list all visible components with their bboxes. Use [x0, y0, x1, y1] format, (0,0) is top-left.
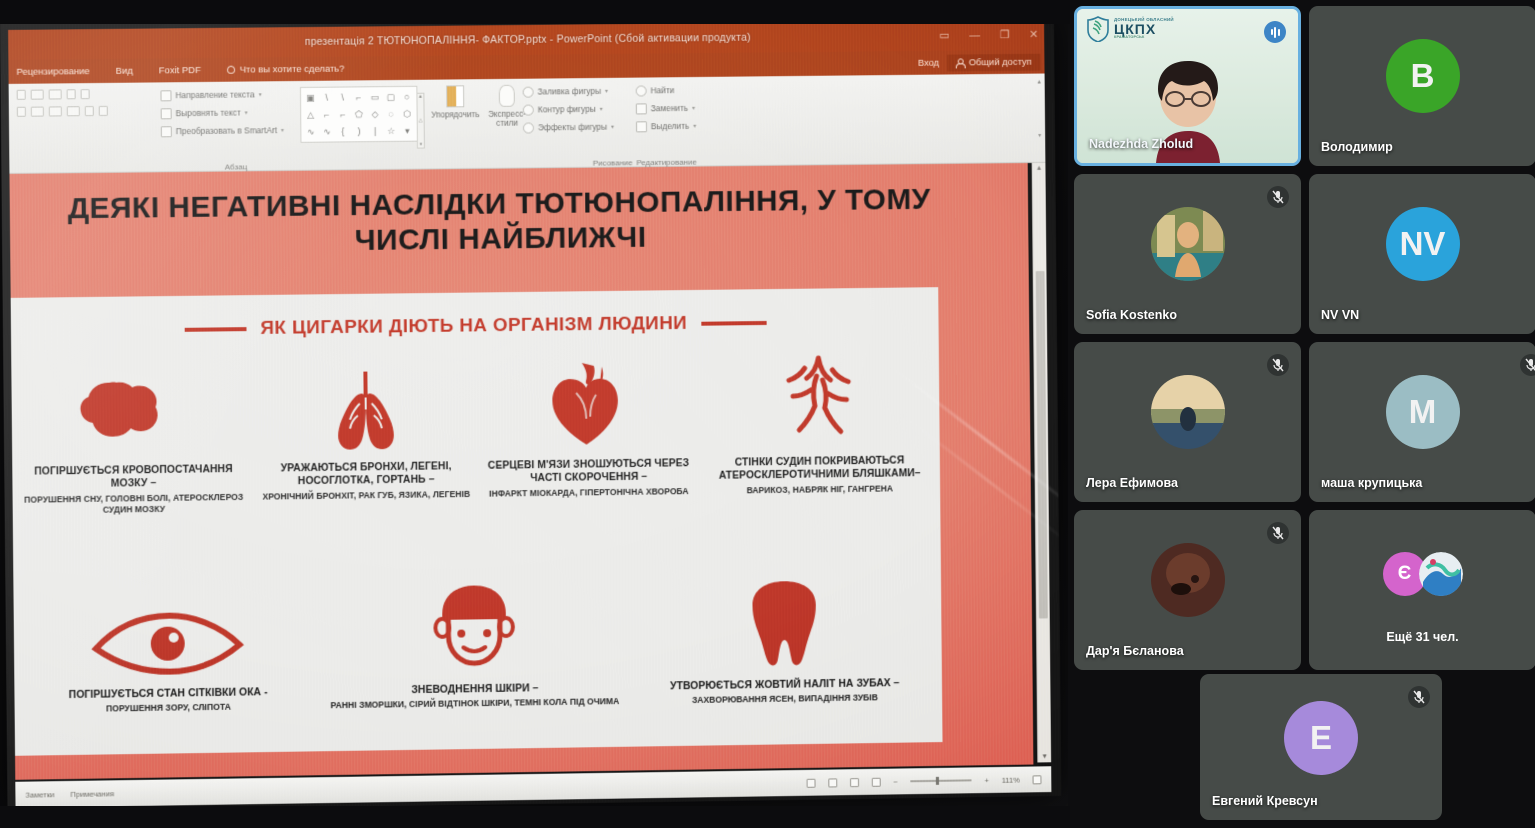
chevron-down-icon: ▾ [281, 127, 284, 134]
organization-logo: ДОНЕЦЬКИЙ ОБЛАСНИЙ ЦКПХ КРАМАТОРСЬК [1087, 16, 1174, 42]
shape-outline-label: Контур фигуры [538, 104, 596, 115]
slideshow-icon[interactable] [872, 777, 881, 786]
sign-in-button[interactable]: Вход [918, 57, 939, 68]
align-center-icon[interactable] [49, 106, 62, 116]
shape-brace-right-icon[interactable]: ) [351, 123, 366, 139]
participant-tile-nadezhda-zholud[interactable]: ДОНЕЦЬКИЙ ОБЛАСНИЙ ЦКПХ КРАМАТОРСЬК [1074, 6, 1301, 166]
text-direction-command[interactable]: Направление текста ▾ [160, 85, 310, 104]
monitor-bezel-bottom [0, 806, 1070, 828]
chevron-down-icon: ▾ [245, 109, 248, 116]
find-command[interactable]: Найти [636, 81, 725, 100]
select-label: Выделить [651, 121, 689, 131]
avatar: NV [1386, 207, 1460, 281]
chevron-down-icon: ▾ [600, 105, 603, 112]
zoom-slider-knob[interactable] [936, 777, 939, 785]
overflow-avatars: Є [1383, 552, 1463, 596]
replace-command[interactable]: Заменить ▾ [636, 99, 725, 118]
zoom-out-icon[interactable]: − [893, 777, 897, 786]
smartart-icon [161, 126, 172, 137]
share-label: Общий доступ [969, 56, 1032, 68]
infographic-item-brain[interactable]: ПОГІРШУЄТЬСЯ КРОВОПОСТАЧАННЯ МОЗКУ – ПОР… [11, 361, 255, 517]
chevron-down-icon: ▾ [611, 123, 614, 130]
caption-sub: ХРОНІЧНИЙ БРОНХІТ, РАК ГУБ, ЯЗИКА, ЛЕГЕН… [261, 489, 472, 503]
participant-tile-nv-vn[interactable]: NV NV VN [1309, 174, 1535, 334]
infographic-row-2: ПОГІРШУЄТЬСЯ СТАН СІТКІВКИ ОКА - ПОРУШЕН… [13, 575, 941, 716]
shield-icon [1087, 16, 1109, 42]
caption-main: СЕРЦЕВІ М'ЯЗИ ЗНОШУЮТЬСЯ ЧЕРЕЗ ЧАСТІ СКО… [483, 457, 694, 486]
participant-tile-masha-krupytska[interactable]: M маша крупицька [1309, 342, 1535, 502]
select-icon [636, 121, 647, 132]
heading-rule-left [185, 327, 247, 332]
shape-outline-command[interactable]: Контур фигуры ▾ [523, 100, 634, 119]
arrange-icon [446, 85, 464, 107]
shape-pentagon-icon[interactable]: ⬠ [351, 106, 366, 122]
view-sorter-icon[interactable] [828, 778, 837, 787]
shape-cube-icon[interactable]: ⬡ [399, 106, 414, 122]
participant-name: Sofia Kostenko [1086, 308, 1177, 322]
shape-fill-icon [523, 86, 534, 97]
participant-grid: ДОНЕЦЬКИЙ ОБЛАСНИЙ ЦКПХ КРАМАТОРСЬК [1074, 6, 1535, 670]
avatar-initial: В [1411, 57, 1435, 95]
infographic-item-tooth[interactable]: УТВОРЮЄТЬСЯ ЖОВТИЙ НАЛІТ НА ЗУБАХ – ЗАХВ… [627, 575, 942, 707]
caption-sub: ПОРУШЕННЯ ЗОРУ, СЛІПОТА [21, 701, 316, 716]
shape-more-icon[interactable]: ▾ [400, 123, 415, 139]
restore-icon[interactable]: ❐ [1000, 30, 1010, 41]
chevron-down-icon[interactable]: ▾ [1038, 132, 1041, 139]
view-reading-icon[interactable] [850, 778, 859, 787]
participant-tile-evgeniy-krevsun[interactable]: Е Евгений Кревсун [1200, 674, 1442, 820]
quick-styles-icon [499, 85, 515, 107]
infographic-item-eye[interactable]: ПОГІРШУЄТЬСЯ СТАН СІТКІВКИ ОКА - ПОРУШЕН… [13, 584, 322, 717]
avatar: В [1386, 39, 1460, 113]
view-normal-icon[interactable] [806, 778, 815, 787]
fit-to-window-icon[interactable] [1033, 775, 1042, 784]
avatar-initial: M [1409, 393, 1437, 431]
participant-tile-volodymyr[interactable]: В Володимир [1309, 6, 1535, 166]
lightbulb-icon [227, 66, 235, 74]
avatar-initial: Є [1398, 563, 1412, 585]
chevron-down-icon: ▾ [693, 122, 696, 129]
replace-icon [636, 103, 647, 114]
find-label: Найти [651, 85, 675, 95]
avatar [1151, 375, 1225, 449]
shape-outline-icon [523, 104, 534, 115]
caption-main: ПОГІРШУЄТЬСЯ КРОВОПОСТАЧАННЯ МОЗКУ – [18, 463, 249, 493]
chevron-down-icon: ▾ [605, 87, 608, 94]
mic-off-icon [1267, 354, 1289, 376]
participant-tile-darya-bielanova[interactable]: Дар'я Бєланова [1074, 510, 1301, 670]
heading-rule-right [701, 321, 766, 326]
shape-effects-icon [523, 122, 534, 133]
zoom-slider[interactable] [911, 779, 972, 782]
status-comments-button[interactable]: Примечания [70, 789, 114, 799]
chevron-up-icon[interactable]: ▲ [1036, 79, 1042, 85]
ribbon-tab-foxit-pdf[interactable]: Foxit PDF [159, 65, 201, 76]
paragraph-align-buttons[interactable] [17, 89, 108, 117]
mic-off-icon [1520, 354, 1535, 376]
bullets-icon[interactable] [17, 90, 26, 100]
lungs-icon [260, 358, 472, 452]
mic-off-icon [1408, 686, 1430, 708]
search-icon [636, 85, 647, 96]
shape-oval-icon[interactable]: ○ [399, 89, 414, 105]
caption-sub: РАННІ ЗМОРШКИ, СІРИЙ ВІДТІНОК ШКІРИ, ТЕМ… [328, 696, 622, 711]
quick-styles-label: Экспресс-стили [488, 110, 526, 128]
shape-rect-icon[interactable]: ▭ [367, 89, 382, 105]
avatar-initial: NV [1400, 225, 1446, 263]
shape-brace-left-icon[interactable]: { [335, 123, 350, 139]
slide-title[interactable]: ДЕЯКІ НЕГАТИВНІ НАСЛІДКИ ТЮТЮНОПАЛІННЯ, … [30, 182, 968, 263]
scroll-more-icon[interactable]: ▾ [420, 142, 423, 148]
caption-main: УРАЖАЮТЬСЯ БРОНХИ, ЛЕГЕНІ, НОСОГЛОТКА, Г… [260, 460, 471, 489]
participant-tile-sofia-kostenko[interactable]: Sofia Kostenko [1074, 174, 1301, 334]
shape-scribble-icon[interactable]: ∿ [303, 124, 318, 140]
infographic-item-vessels[interactable]: СТІНКИ СУДИН ПОКРИВАЮТЬСЯ АТЕРОСКЛЕРОТИЧ… [699, 353, 940, 508]
infographic-item-face[interactable]: ЗНЕВОДНЕННЯ ШКІРИ – РАННІ ЗМОРШКИ, СІРИЙ… [321, 579, 628, 711]
shape-arrow-icon[interactable]: \ [335, 89, 350, 105]
shape-arrow2-icon[interactable]: ⌐ [319, 107, 334, 123]
participant-tile-more-participants[interactable]: Є Ещё 31 чел. [1309, 510, 1535, 670]
avatar-initial: Е [1310, 719, 1332, 757]
shape-elbow-icon[interactable]: ⌐ [351, 89, 366, 105]
shape-effects-command[interactable]: Эффекты фигуры ▾ [523, 117, 634, 136]
ribbon-group-editing: Найти Заменить ▾ Выделить ▾ Редактирован… [636, 81, 726, 154]
avatar: M [1386, 375, 1460, 449]
shape-effects-label: Эффекты фигуры [538, 122, 607, 133]
convert-to-smartart-command[interactable]: Преобразовать в SmartArt ▾ [161, 121, 311, 141]
tell-me-label: Что вы хотите сделать? [240, 63, 345, 75]
scroll-down-icon[interactable]: ▼ [1038, 753, 1051, 760]
align-left-icon[interactable] [31, 107, 44, 117]
shape-bar-icon[interactable]: | [368, 123, 383, 139]
infographic-item-heart[interactable]: СЕРЦЕВІ М'ЯЗИ ЗНОШУЮТЬСЯ ЧЕРЕЗ ЧАСТІ СКО… [476, 356, 700, 511]
ribbon-group-drawing: Заливка фигуры ▾ Контур фигуры ▾ Эффекты… [523, 82, 635, 155]
participant-name: маша крупицька [1321, 476, 1422, 490]
infographic-item-lungs[interactable]: УРАЖАЮТЬСЯ БРОНХИ, ЛЕГЕНІ, НОСОГЛОТКА, Г… [254, 358, 478, 513]
justify-icon[interactable] [85, 106, 94, 116]
participant-name: Дар'я Бєланова [1086, 644, 1184, 658]
chevron-down-icon: ▾ [259, 91, 262, 98]
infographic-row-1: ПОГІРШУЄТЬСЯ КРОВОПОСТАЧАННЯ МОЗКУ – ПОР… [11, 353, 940, 517]
text-direction-icon [160, 90, 171, 101]
line-spacing-icon[interactable] [81, 89, 90, 99]
zoom-level[interactable]: 111% [1002, 775, 1020, 784]
infographic-heading-text: ЯК ЦИГАРКИ ДІЮТЬ НА ОРГАНІЗМ ЛЮДИНИ [260, 313, 687, 340]
slide-surface[interactable]: ДЕЯКІ НЕГАТИВНІ НАСЛІДКИ ТЮТЮНОПАЛІННЯ, … [9, 163, 1033, 780]
align-text-label: Выровнять текст [176, 108, 241, 119]
scroll-up-icon[interactable]: ▲ [1033, 165, 1046, 172]
speaking-indicator-icon [1264, 21, 1286, 43]
close-icon[interactable]: ✕ [1029, 29, 1038, 40]
align-right-icon[interactable] [67, 106, 80, 116]
participant-name: Лера Ефимова [1086, 476, 1178, 490]
participant-tile-lera-efimova[interactable]: Лера Ефимова [1074, 342, 1301, 502]
participant-name: NV VN [1321, 308, 1359, 322]
tooth-icon [633, 575, 936, 671]
participant-name: Nadezhda Zholud [1089, 137, 1193, 151]
align-text-command[interactable]: Выровнять текст ▾ [161, 103, 311, 123]
shapes-gallery-scrollbar[interactable]: ▲ △ ▾ [416, 93, 424, 149]
arrange-button[interactable]: Упорядочить [427, 85, 483, 119]
brain-icon [17, 361, 248, 456]
decrease-indent-icon[interactable] [49, 89, 62, 99]
scroll-thumb[interactable]: △ [419, 118, 423, 124]
caption-sub: ЗАХВОРЮВАННЯ ЯСЕН, ВИПАДІННЯ ЗУБІВ [634, 692, 936, 707]
window-title: презентація 2 ТЮТЮНОПАЛІННЯ- ФАКТОР.pptx… [305, 32, 751, 48]
ribbon-tab-review[interactable]: Рецензирование [16, 66, 89, 78]
share-button[interactable]: Общий доступ [947, 53, 1041, 71]
replace-label: Заменить [651, 103, 688, 113]
avatar [1419, 552, 1463, 596]
shape-rounded-rect-icon[interactable]: ▢ [383, 89, 398, 105]
arrange-label: Упорядочить [431, 110, 479, 119]
ribbon-group-paragraph: Направление текста ▾ Выровнять текст ▾ П… [160, 85, 310, 158]
logo-line-3: КРАМАТОРСЬК [1114, 36, 1174, 40]
infographic-heading: ЯК ЦИГАРКИ ДІЮТЬ НА ОРГАНІЗМ ЛЮДИНИ [11, 287, 939, 343]
avatar [1151, 543, 1225, 617]
status-notes-button[interactable]: Заметки [25, 790, 54, 799]
scrollbar-thumb[interactable] [1036, 271, 1048, 619]
shapes-gallery[interactable]: ▣ \ \ ⌐ ▭ ▢ ○ △ ⌐ ⌐ ⬠ ◇ ◌ ⬡ ∿ ∿ { [300, 86, 418, 143]
powerpoint-ribbon: Направление текста ▾ Выровнять текст ▾ П… [9, 74, 1046, 174]
window-controls[interactable]: ▭ — ❐ ✕ [939, 20, 1038, 51]
shape-fill-label: Заливка фигуры [538, 86, 602, 97]
shape-diamond-icon[interactable]: ◇ [367, 106, 382, 122]
heart-icon [482, 356, 693, 450]
participant-name: Володимир [1321, 140, 1393, 154]
mic-off-icon [1267, 186, 1289, 208]
shape-line-icon[interactable]: \ [319, 90, 334, 106]
face-icon [327, 580, 622, 676]
blood-vessels-icon [705, 353, 934, 447]
increase-indent-icon[interactable] [67, 89, 76, 99]
shape-teardrop-icon[interactable]: ◌ [383, 106, 398, 122]
minimize-icon[interactable]: — [969, 30, 980, 41]
more-participants-label: Ещё 31 чел. [1309, 630, 1535, 644]
monitor-bezel-top [0, 0, 1070, 24]
chevron-down-icon: ▾ [692, 104, 695, 111]
slide-canvas[interactable]: ДЕЯКІ НЕГАТИВНІ НАСЛІДКИ ТЮТЮНОПАЛІННЯ, … [9, 163, 1033, 780]
zoom-in-icon[interactable]: + [985, 776, 989, 785]
shape-curve-icon[interactable]: ∿ [319, 124, 334, 140]
ribbon-tab-view[interactable]: Вид [116, 65, 133, 76]
ribbon-collapse-control[interactable]: ▲ ▾ [1036, 79, 1043, 139]
eye-icon [19, 584, 315, 680]
select-command[interactable]: Выделить ▾ [636, 117, 725, 136]
avatar: Е [1284, 701, 1358, 775]
infographic-panel[interactable]: ЯК ЦИГАРКИ ДІЮТЬ НА ОРГАНІЗМ ЛЮДИНИ [11, 287, 943, 756]
align-text-icon [161, 108, 172, 119]
shape-fill-command[interactable]: Заливка фигуры ▾ [523, 82, 634, 101]
text-direction-label: Направление текста [175, 89, 254, 100]
slide-scrollbar[interactable]: ▲ ▼ [1032, 163, 1052, 763]
caption-sub: ВАРИКОЗ, НАБРЯК НІГ, ГАНГРЕНА [706, 483, 934, 497]
monitor-screen: презентація 2 ТЮТЮНОПАЛІННЯ- ФАКТОР.pptx… [0, 12, 1061, 812]
tell-me-search[interactable]: Что вы хотите сделать? [227, 63, 345, 75]
logo-line-2: ЦКПХ [1114, 22, 1174, 36]
participant-name: Евгений Кревсун [1212, 794, 1318, 808]
convert-to-smartart-label: Преобразовать в SmartArt [176, 125, 277, 136]
shape-textbox-icon[interactable]: ▣ [303, 90, 318, 106]
shape-star-icon[interactable]: ☆ [384, 123, 399, 139]
caption-sub: ПОРУШЕННЯ СНУ, ГОЛОВНІ БОЛІ, АТЕРОСКЛЕРО… [19, 491, 249, 516]
screenshot-root: презентація 2 ТЮТЮНОПАЛІННЯ- ФАКТОР.pptx… [0, 0, 1535, 828]
person-icon [956, 58, 964, 67]
text-shadow-icon[interactable] [17, 107, 26, 117]
shape-arrow3-icon[interactable]: ⌐ [335, 106, 350, 122]
ribbon-display-options-icon[interactable]: ▭ [939, 30, 949, 41]
avatar [1151, 207, 1225, 281]
columns-icon[interactable] [99, 106, 108, 116]
numbering-icon[interactable] [31, 90, 44, 100]
shape-triangle-icon[interactable]: △ [303, 107, 318, 123]
caption-sub: ІНФАРКТ МІОКАРДА, ГІПЕРТОНІЧНА ХВОРОБА [484, 486, 694, 500]
caption-main: СТІНКИ СУДИН ПОКРИВАЮТЬСЯ АТЕРОСКЛЕРОТИЧ… [705, 454, 933, 483]
mic-off-icon [1267, 522, 1289, 544]
scroll-up-icon[interactable]: ▲ [418, 94, 423, 100]
video-conference-panel: ДОНЕЦЬКИЙ ОБЛАСНИЙ ЦКПХ КРАМАТОРСЬК [1068, 0, 1535, 828]
